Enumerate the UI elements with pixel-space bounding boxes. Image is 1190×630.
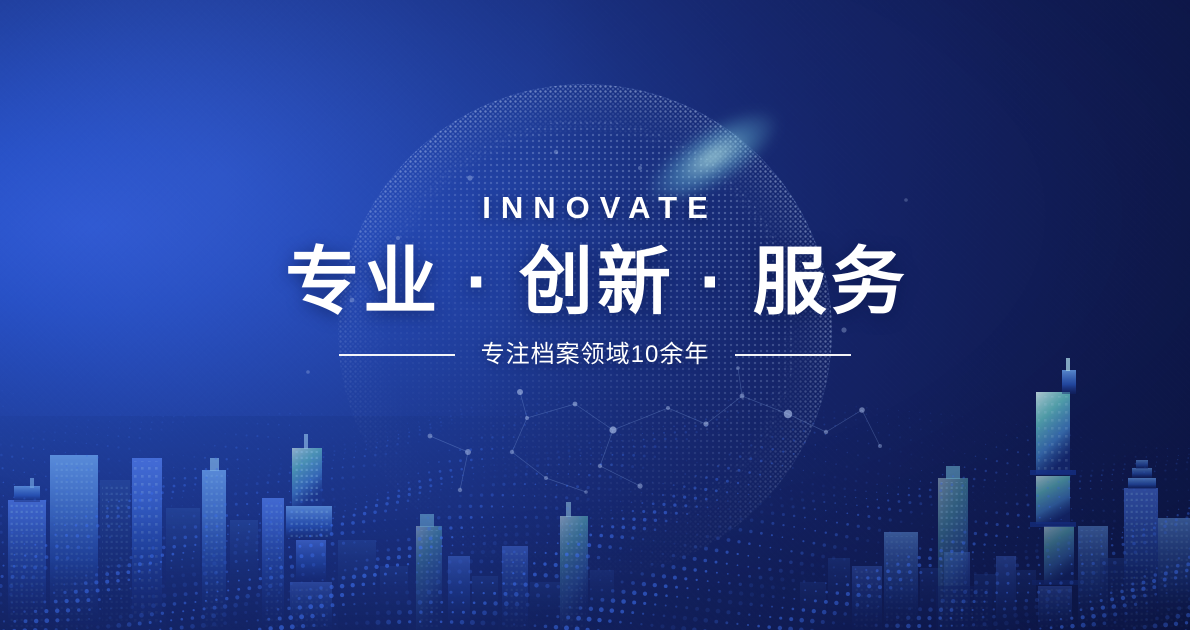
- hero-banner: INNOVATE 专业 · 创新 · 服务 专注档案领域10余年: [0, 0, 1190, 630]
- particle-wave-mesh: [0, 380, 1190, 630]
